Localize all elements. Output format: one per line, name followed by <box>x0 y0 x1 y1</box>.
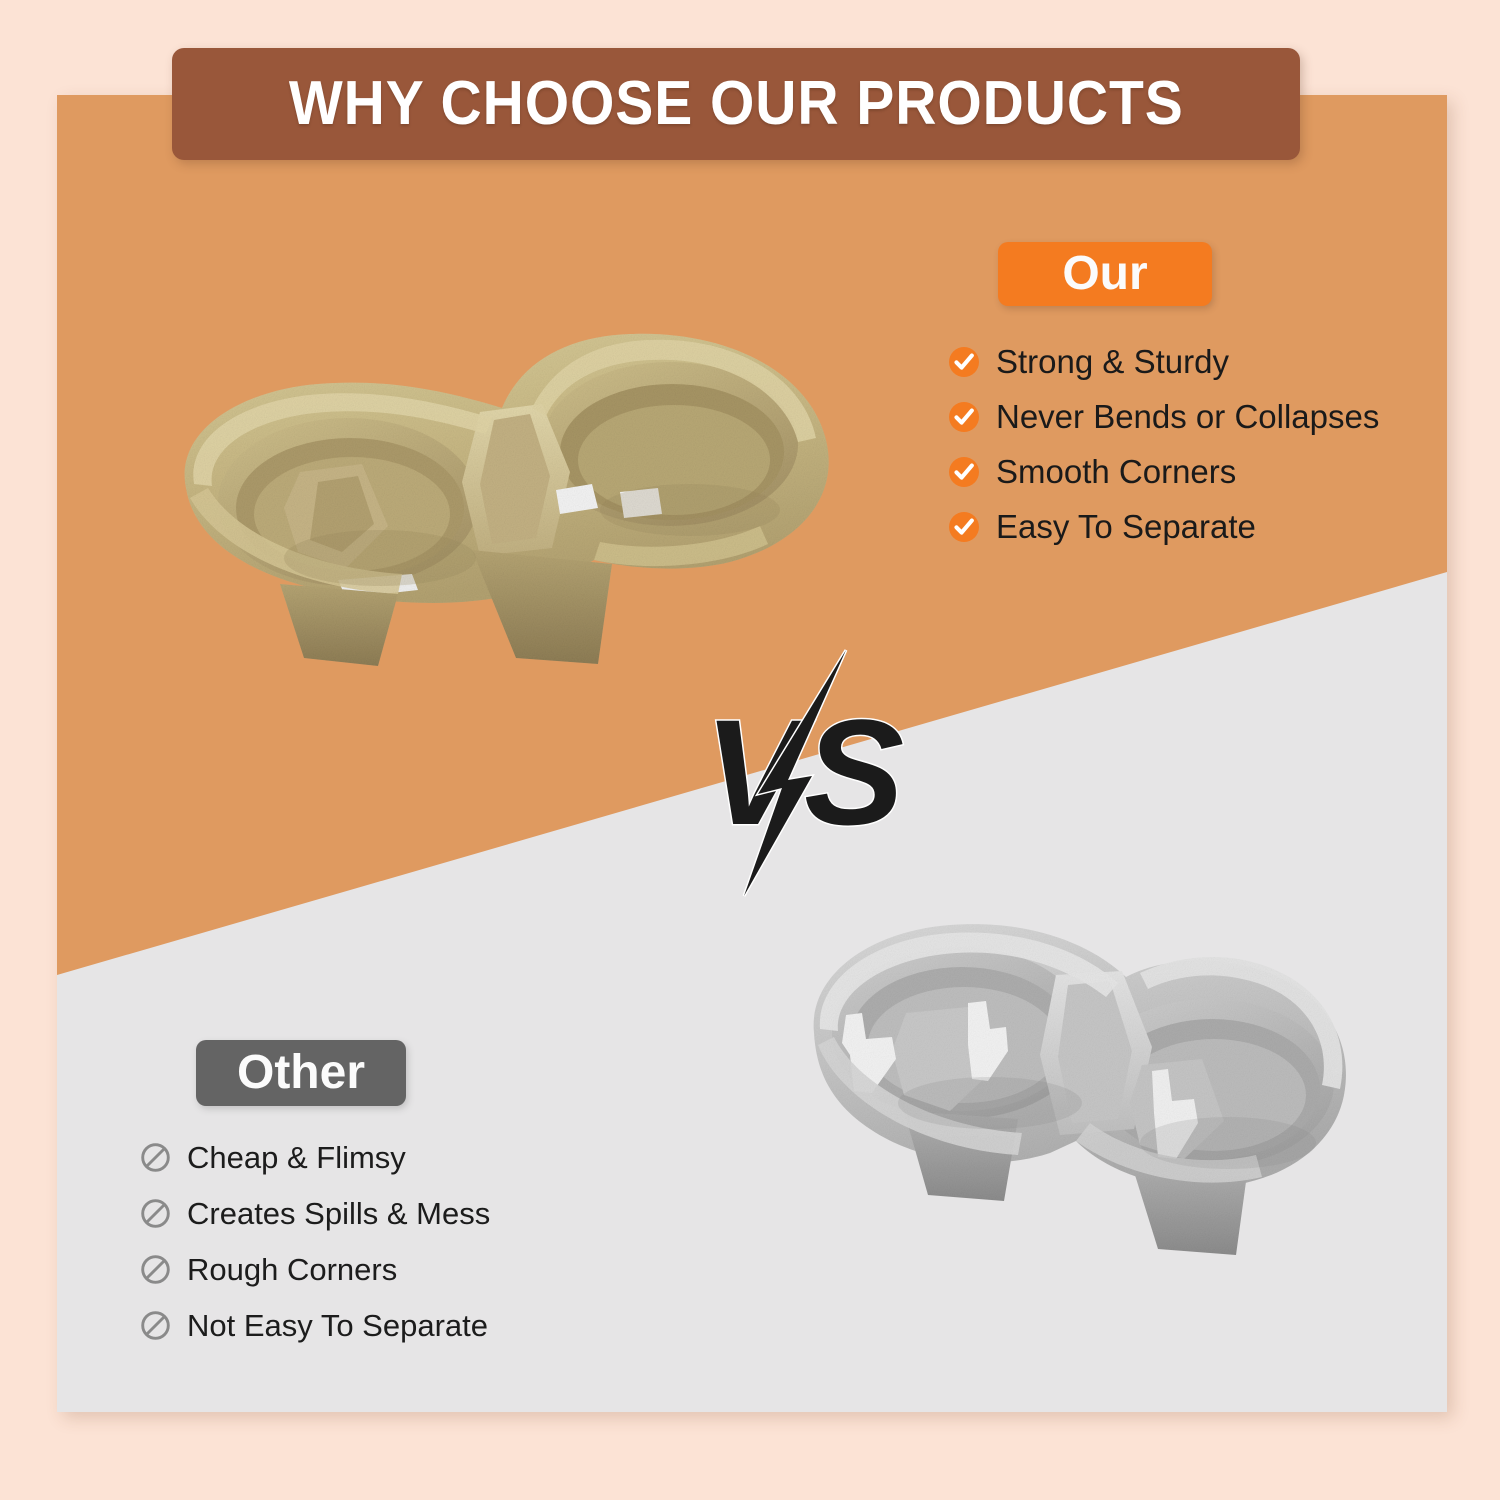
our-badge-label: Our <box>1062 250 1147 298</box>
page-title-banner: WHY CHOOSE OUR PRODUCTS <box>172 48 1300 160</box>
feature-label: Cheap & Flimsy <box>187 1142 406 1173</box>
list-item: Rough Corners <box>140 1254 490 1285</box>
list-item: Smooth Corners <box>948 455 1379 488</box>
versus-mark: VS <box>700 648 910 898</box>
prohibited-icon <box>140 1310 171 1341</box>
feature-label: Smooth Corners <box>996 455 1236 488</box>
other-product-image <box>800 905 1365 1300</box>
check-circle-icon <box>948 456 980 488</box>
feature-label: Strong & Sturdy <box>996 345 1229 378</box>
list-item: Not Easy To Separate <box>140 1310 490 1341</box>
feature-label: Not Easy To Separate <box>187 1310 488 1341</box>
check-circle-icon <box>948 346 980 378</box>
feature-label: Rough Corners <box>187 1254 397 1285</box>
feature-label: Creates Spills & Mess <box>187 1198 490 1229</box>
prohibited-icon <box>140 1198 171 1229</box>
our-section-badge: Our <box>998 242 1212 306</box>
list-item: Strong & Sturdy <box>948 345 1379 378</box>
page-title: WHY CHOOSE OUR PRODUCTS <box>289 73 1184 135</box>
list-item: Easy To Separate <box>948 510 1379 543</box>
list-item: Cheap & Flimsy <box>140 1142 490 1173</box>
other-section-badge: Other <box>196 1040 406 1106</box>
check-circle-icon <box>948 511 980 543</box>
other-badge-label: Other <box>237 1049 365 1097</box>
list-item: Never Bends or Collapses <box>948 400 1379 433</box>
prohibited-icon <box>140 1142 171 1173</box>
feature-label: Never Bends or Collapses <box>996 400 1379 433</box>
versus-label: VS <box>704 688 904 856</box>
infographic-root: WHY CHOOSE OUR PRODUCTS Our Strong & Stu… <box>0 0 1500 1500</box>
feature-label: Easy To Separate <box>996 510 1256 543</box>
our-product-image <box>150 312 860 682</box>
other-feature-list: Cheap & Flimsy Creates Spills & Mess Rou… <box>140 1142 490 1341</box>
prohibited-icon <box>140 1254 171 1285</box>
list-item: Creates Spills & Mess <box>140 1198 490 1229</box>
our-feature-list: Strong & Sturdy Never Bends or Collapses… <box>948 345 1379 543</box>
check-circle-icon <box>948 401 980 433</box>
